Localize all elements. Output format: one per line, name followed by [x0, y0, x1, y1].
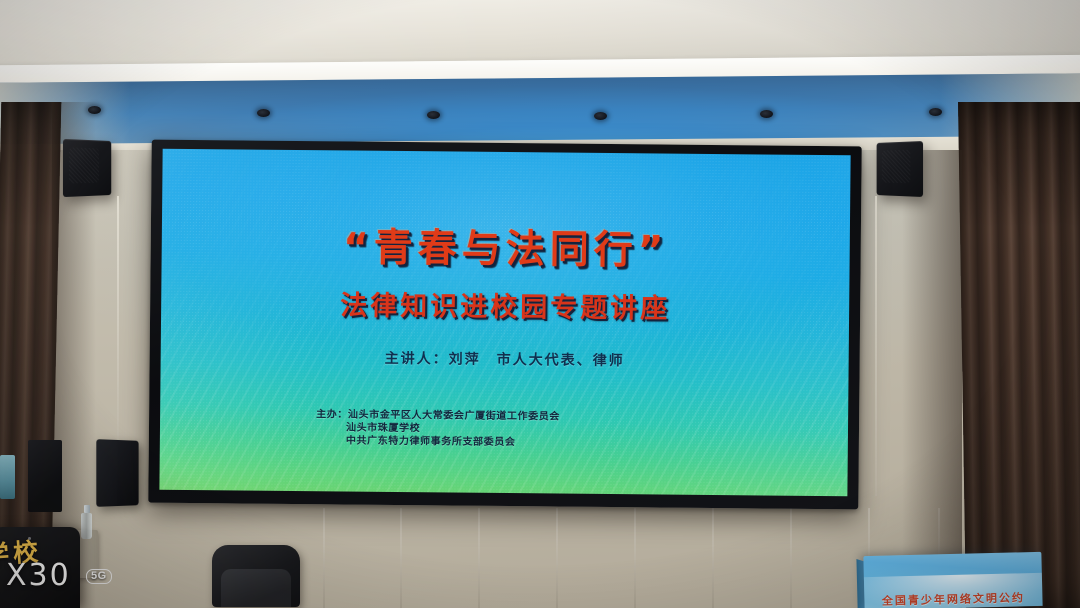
wall-panel-seam-2	[400, 508, 402, 608]
wall-panel-seam-7	[790, 508, 792, 608]
photo-scene: “青春与法同行” 法律知识进校园专题讲座 主讲人：刘萍 市人大代表、律师 主办：…	[0, 0, 1080, 608]
presentation-slide: “青春与法同行” 法律知识进校园专题讲座 主讲人：刘萍 市人大代表、律师 主办：…	[159, 149, 850, 497]
folding-chair	[208, 545, 304, 608]
wall-poster: 全国青少年网络文明公约	[863, 552, 1042, 608]
equipment-cabinet	[0, 527, 80, 608]
wall-speaker-right	[877, 141, 923, 197]
screen-bezel: “青春与法同行” 法律知识进校园专题讲座 主讲人：刘萍 市人大代表、律师 主办：…	[148, 140, 861, 510]
screen-panel: “青春与法同行” 法律知识进校园专题讲座 主讲人：刘萍 市人大代表、律师 主办：…	[159, 149, 850, 497]
bottle-cap	[84, 505, 90, 513]
corner-shadow-right	[902, 150, 962, 608]
wood-slat-panel-right	[958, 102, 1080, 608]
poster-face: 全国青少年网络文明公约	[863, 552, 1042, 608]
slide-organizer-block: 主办：汕头市金平区人大常委会广厦街道工作委员会 汕头市珠厦学校 中共广东特力律师…	[316, 408, 560, 449]
wall-panel-seam-1	[323, 508, 325, 608]
slide-presenter-line: 主讲人：刘萍 市人大代表、律师	[385, 348, 625, 370]
ceiling-downlight-5	[760, 110, 773, 118]
wall-panel-seam-4	[556, 508, 558, 608]
ceiling-downlight-4	[594, 112, 607, 120]
speaker-cable-right	[875, 196, 877, 496]
water-bottle	[81, 505, 92, 539]
ceiling-downlight-6	[929, 108, 942, 116]
ceiling-downlight-2	[257, 109, 270, 117]
dark-wall-board	[28, 440, 62, 512]
ceiling-downlight-3	[427, 111, 440, 119]
wall-panel-seam-5	[634, 508, 636, 608]
wall-panel-seam-3	[478, 508, 480, 608]
slide-subtitle: 法律知识进校园专题讲座	[340, 283, 670, 325]
chair-backrest	[212, 545, 300, 607]
poster-title-text: 全国青少年网络文明公约	[864, 589, 1042, 608]
organizer-line-3: 中共广东特力律师事务所支部委员会	[316, 434, 560, 449]
led-wall-screen[interactable]: “青春与法同行” 法律知识进校园专题讲座 主讲人：刘萍 市人大代表、律师 主办：…	[148, 140, 861, 510]
teal-object	[0, 455, 15, 499]
wall-panel-seam-6	[712, 508, 714, 608]
wall-speaker-lower-left	[96, 439, 138, 507]
speaker-cable-left	[117, 196, 119, 446]
bottle-body	[81, 513, 92, 539]
wall-speaker-left	[63, 139, 111, 197]
cabinet-indicator-dot	[28, 537, 31, 540]
slide-title: “青春与法同行”	[343, 216, 669, 275]
